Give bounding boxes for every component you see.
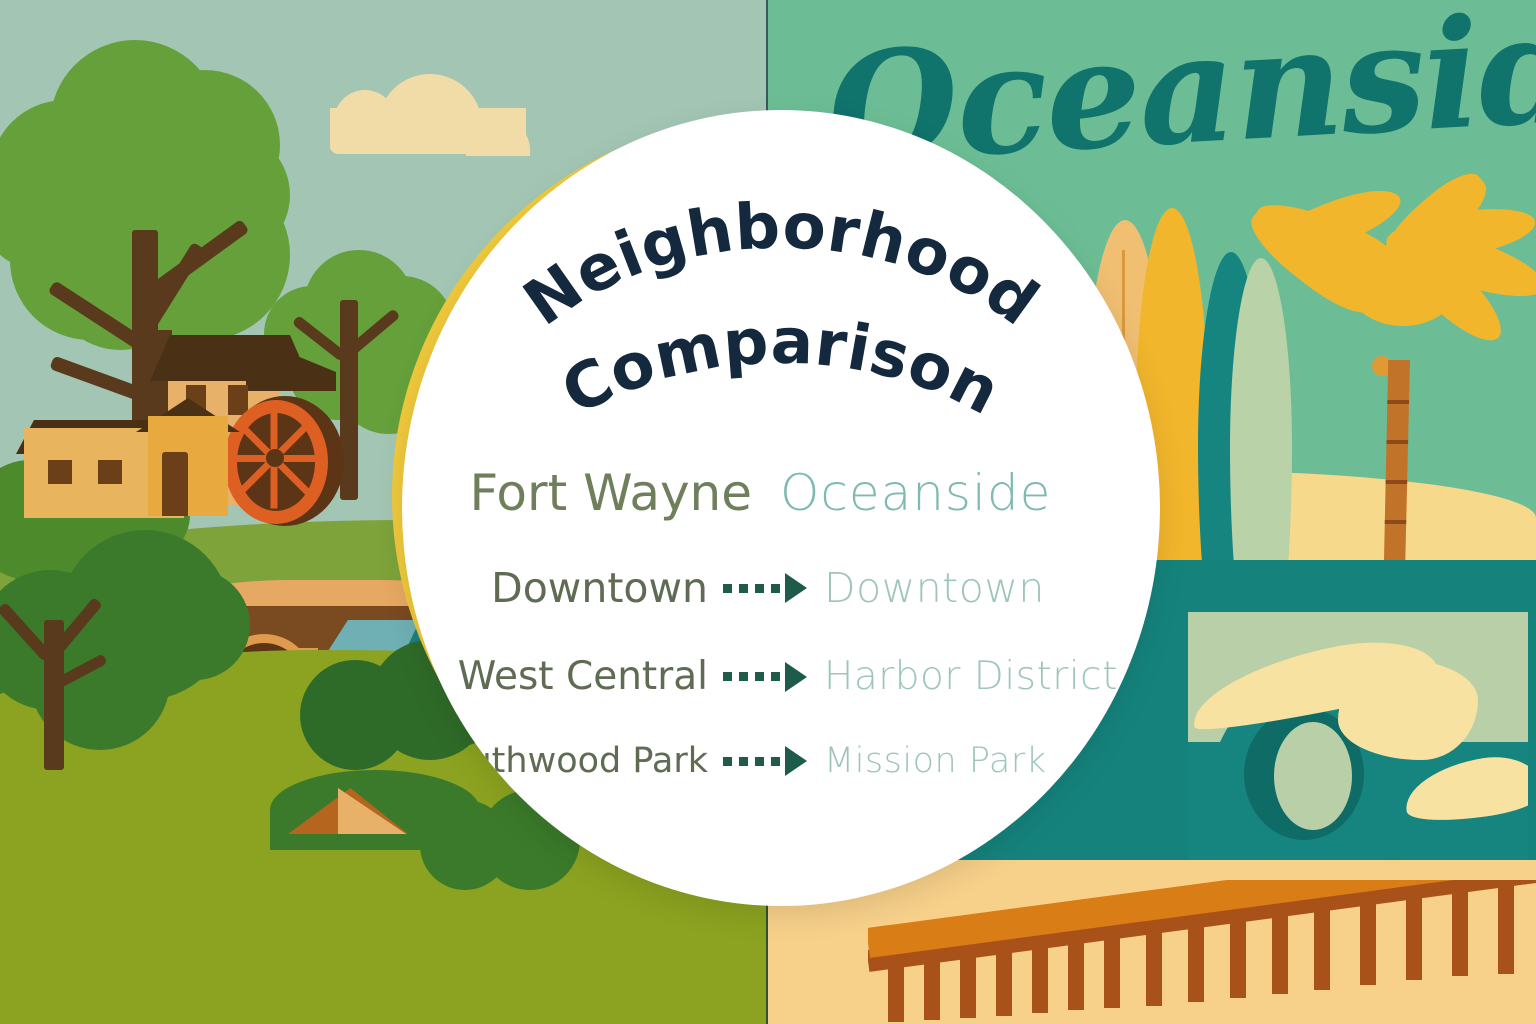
wave-illustration <box>1188 612 1528 868</box>
column-header-fort-wayne: Fort Wayne <box>422 464 764 522</box>
pier-piling <box>1188 922 1204 1002</box>
mill-door <box>162 452 188 516</box>
comparison-row: Downtown Downtown <box>402 564 1160 612</box>
pier-piling <box>1146 928 1162 1006</box>
arrow-head <box>785 662 807 692</box>
pier-piling <box>1230 916 1246 998</box>
pier-piling <box>924 956 940 1020</box>
pier-piling <box>1272 910 1288 994</box>
title-line-2-text: Comparison <box>550 305 1011 430</box>
pier-piling <box>960 952 976 1018</box>
wave-foam <box>1338 660 1478 760</box>
pier-piling <box>1314 904 1330 990</box>
arrow-dots <box>723 757 780 766</box>
neighborhood-right: Downtown <box>808 564 1154 612</box>
neighborhood-right: Harbor District <box>808 654 1154 699</box>
bush-cluster <box>0 530 240 720</box>
comparison-row: Southwood Park Mission Park <box>402 741 1160 781</box>
dotted-arrow-right-icon <box>722 573 808 603</box>
tree-branch <box>49 356 144 402</box>
title-line-2: Comparison <box>550 305 1011 430</box>
pier-piling <box>1068 938 1084 1010</box>
wave-barrel <box>1274 722 1352 830</box>
arrow-head <box>785 746 807 776</box>
neighborhood-left: Southwood Park <box>408 741 722 781</box>
waterwheel-hub <box>266 449 284 467</box>
mill-porch <box>148 416 228 516</box>
column-headers: Fort Wayne Oceanside <box>402 464 1160 522</box>
page-title: Neighborhood Comparison <box>402 154 1160 454</box>
arrow-dots <box>723 584 780 593</box>
dotted-arrow-right-icon <box>722 662 808 692</box>
neighborhood-left: Downtown <box>408 564 722 612</box>
arrow-head <box>785 573 807 603</box>
neighborhood-right: Mission Park <box>808 741 1154 781</box>
poster-canvas: Oceanside <box>0 0 1536 1024</box>
column-header-oceanside: Oceanside <box>764 464 1140 522</box>
pier-piling <box>1452 884 1468 976</box>
arrow-dots <box>723 672 780 681</box>
neighborhood-left: West Central <box>408 654 722 699</box>
pier-piling <box>1406 890 1422 980</box>
pier-piling <box>996 948 1012 1016</box>
dotted-arrow-right-icon <box>722 746 808 776</box>
comparison-card: Neighborhood Comparison Fort Wayne Ocean… <box>402 110 1160 906</box>
pier-piling <box>1498 880 1514 974</box>
mill-window <box>48 460 72 484</box>
pier-piling <box>1104 934 1120 1008</box>
pier-piling <box>1032 943 1048 1013</box>
pier-piling <box>888 960 904 1022</box>
comparison-body: Fort Wayne Oceanside Downtown Downtown W… <box>402 464 1160 781</box>
mill-window <box>98 460 122 484</box>
pier <box>868 880 1536 1024</box>
comparison-row: West Central Harbor District <box>402 654 1160 699</box>
pier-piling <box>1360 897 1376 985</box>
